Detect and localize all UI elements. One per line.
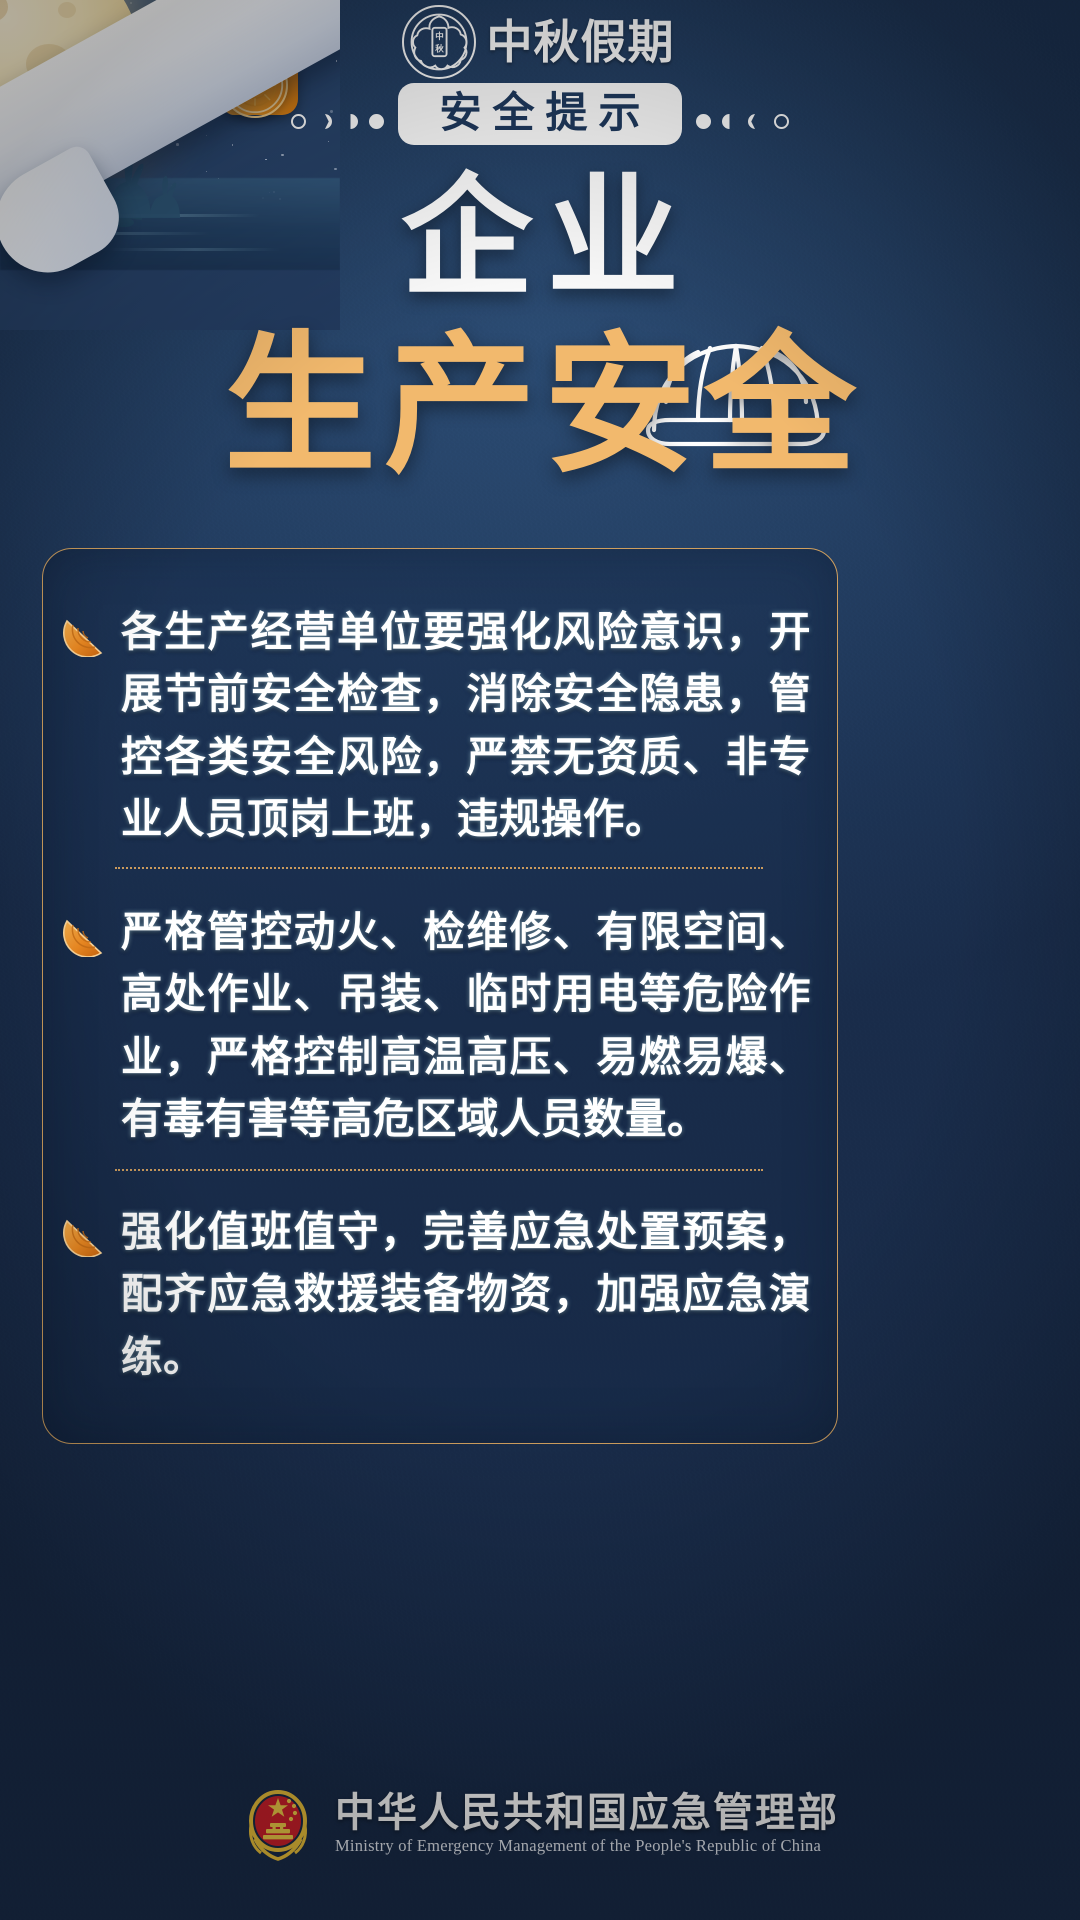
header-badge: 中 秋 中秋假期 安全提示 — [0, 16, 1080, 134]
list-item-text: 各生产经营单位要强化风险意识，开展节前安全检查，消除安全隐患，管控各类安全风险，… — [121, 601, 811, 850]
badge-pill: 安全提示 — [398, 83, 681, 145]
national-emblem-icon — [241, 1785, 315, 1863]
divider — [115, 867, 763, 869]
page-title-line2: 生产安全 — [0, 330, 1080, 482]
footer-org-name-en: Ministry of Emergency Management of the … — [335, 1838, 839, 1855]
page-title-line1: 企业 — [0, 172, 1080, 304]
moon-phases-left-icon — [291, 114, 384, 145]
list-item: 各生产经营单位要强化风险意识，开展节前安全检查，消除安全隐患，管控各类安全风险，… — [63, 601, 811, 850]
divider — [115, 1169, 763, 1171]
list-item: 强化值班值守，完善应急处置预案，配齐应急救援装备物资，加强应急演练。 — [63, 1201, 811, 1388]
list-item-text: 严格管控动火、检维修、有限空间、高处作业、吊装、临时用电等危险作业，严格控制高温… — [121, 901, 811, 1150]
half-mooncake-bullet-icon — [63, 615, 115, 657]
mooncake-seal-icon: 中 秋 — [402, 5, 476, 79]
list-item-text: 强化值班值守，完善应急处置预案，配齐应急救援装备物资，加强应急演练。 — [121, 1201, 811, 1388]
half-mooncake-bullet-icon — [63, 1215, 115, 1257]
content-card: 各生产经营单位要强化风险意识，开展节前安全检查，消除安全隐患，管控各类安全风险，… — [42, 548, 838, 1444]
footer: 中华人民共和国应急管理部 Ministry of Emergency Manag… — [0, 1776, 1080, 1872]
moon-phases-right-icon — [696, 114, 789, 145]
half-mooncake-bullet-icon — [63, 915, 115, 957]
svg-text:中: 中 — [436, 31, 445, 42]
title-zone: 企业 生产安全 — [0, 150, 1080, 510]
footer-org-name-cn: 中华人民共和国应急管理部 — [335, 1793, 839, 1833]
svg-text:秋: 秋 — [435, 43, 445, 54]
badge-title: 中秋假期 — [486, 19, 674, 65]
poster-root: 中 秋 中秋假期 安全提示 企业 — [0, 0, 1080, 1920]
badge-subtitle: 安全提示 — [428, 92, 651, 134]
list-item: 严格管控动火、检维修、有限空间、高处作业、吊装、临时用电等危险作业，严格控制高温… — [63, 901, 811, 1150]
